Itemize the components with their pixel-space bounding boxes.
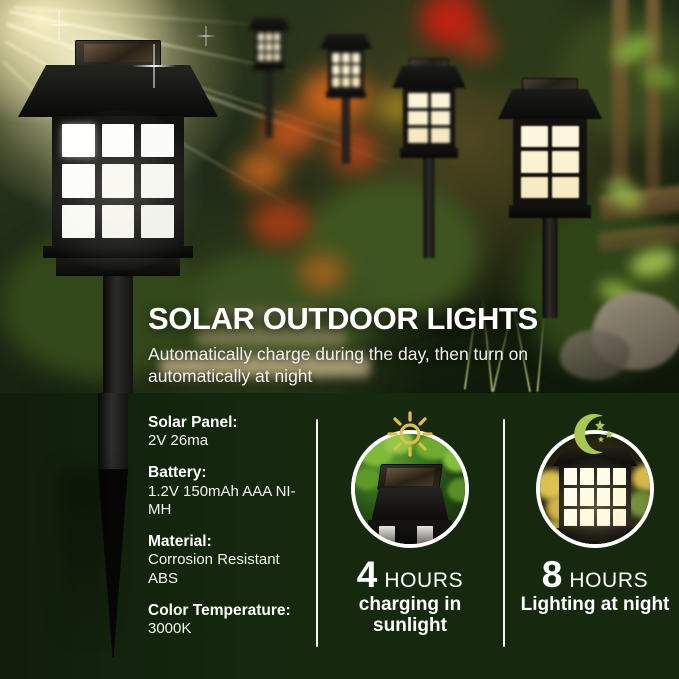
- flower-cluster: [460, 30, 495, 60]
- column-divider: [316, 419, 318, 647]
- spec-item-material: Material: Corrosion Resistant ABS: [148, 532, 313, 589]
- hero-text-block: SOLAR OUTDOOR LIGHTS Automatically charg…: [148, 303, 668, 387]
- column-divider: [503, 419, 505, 647]
- lantern-pane: [102, 124, 135, 157]
- spec-value: 3000K: [148, 620, 313, 639]
- lamp-head-body: [371, 488, 449, 522]
- spec-item-battery: Battery: 1.2V 150mAh AAA NI-MH: [148, 463, 313, 520]
- lantern-pane: [141, 164, 174, 197]
- badge-hours-number: 8: [542, 557, 563, 592]
- spec-item-solar-panel: Solar Panel: 2V 26ma: [148, 413, 313, 451]
- fence-rail: [646, 0, 660, 195]
- badge-hours-line: 4 HOURS: [330, 557, 490, 593]
- lantern-pane: [102, 205, 135, 238]
- lantern-stake-shadow: [60, 470, 110, 645]
- background-lantern: [498, 78, 602, 318]
- badge-lighting: 8 HOURS Lighting at night: [515, 430, 675, 615]
- lantern-stake: [98, 393, 128, 469]
- badge-description: Lighting at night: [515, 594, 675, 615]
- sun-icon: [384, 408, 436, 460]
- lantern-base: [56, 258, 180, 276]
- spec-list: Solar Panel: 2V 26ma Battery: 1.2V 150mA…: [148, 413, 313, 651]
- flower-cluster: [300, 255, 345, 290]
- badge-hours-unit: HOURS: [384, 569, 463, 593]
- background-lantern: [248, 18, 290, 138]
- flower-cluster: [236, 150, 286, 190]
- lantern-pole: [103, 276, 133, 393]
- badge-hours-number: 4: [357, 557, 378, 592]
- product-infographic: SOLAR OUTDOOR LIGHTS Automatically charg…: [0, 0, 679, 679]
- lantern-roof: [18, 65, 218, 117]
- fence-rail: [612, 0, 628, 185]
- spec-item-color-temperature: Color Temperature: 3000K: [148, 601, 313, 639]
- spec-value: Corrosion Resistant ABS: [148, 551, 313, 589]
- lantern-pane: [62, 124, 95, 157]
- badge-charging: 4 HOURS charging in sunlight: [330, 430, 490, 637]
- badge-hours-line: 8 HOURS: [515, 557, 675, 593]
- lantern-base: [43, 246, 193, 258]
- background-lantern: [392, 58, 466, 258]
- lantern-pane: [141, 205, 174, 238]
- badge-description: charging in sunlight: [330, 594, 490, 637]
- page-title: SOLAR OUTDOOR LIGHTS: [148, 303, 668, 334]
- background-lantern: [320, 34, 372, 164]
- lantern-pane-grid: [62, 124, 174, 238]
- spec-label: Solar Panel:: [148, 413, 313, 432]
- lantern-pane: [141, 124, 174, 157]
- badge-hours-unit: HOURS: [569, 569, 648, 593]
- solar-panel-glass: [377, 464, 443, 490]
- spec-value: 2V 26ma: [148, 432, 313, 451]
- hero-photo: SOLAR OUTDOOR LIGHTS Automatically charg…: [0, 0, 679, 393]
- leaf: [443, 448, 469, 472]
- spec-label: Material:: [148, 532, 313, 551]
- leaf: [447, 478, 469, 502]
- lantern-pane: [62, 164, 95, 197]
- lantern-pane: [102, 164, 135, 197]
- spec-value: 1.2V 150mAh AAA NI-MH: [148, 483, 313, 521]
- spec-label: Color Temperature:: [148, 601, 313, 620]
- solar-panel-top: [75, 40, 161, 66]
- lantern-pane: [62, 205, 95, 238]
- page-subtitle: Automatically charge during the day, the…: [148, 343, 618, 387]
- crescent-moon-stars-icon: [569, 408, 621, 460]
- spec-label: Battery:: [148, 463, 313, 482]
- flower-cluster: [250, 200, 310, 245]
